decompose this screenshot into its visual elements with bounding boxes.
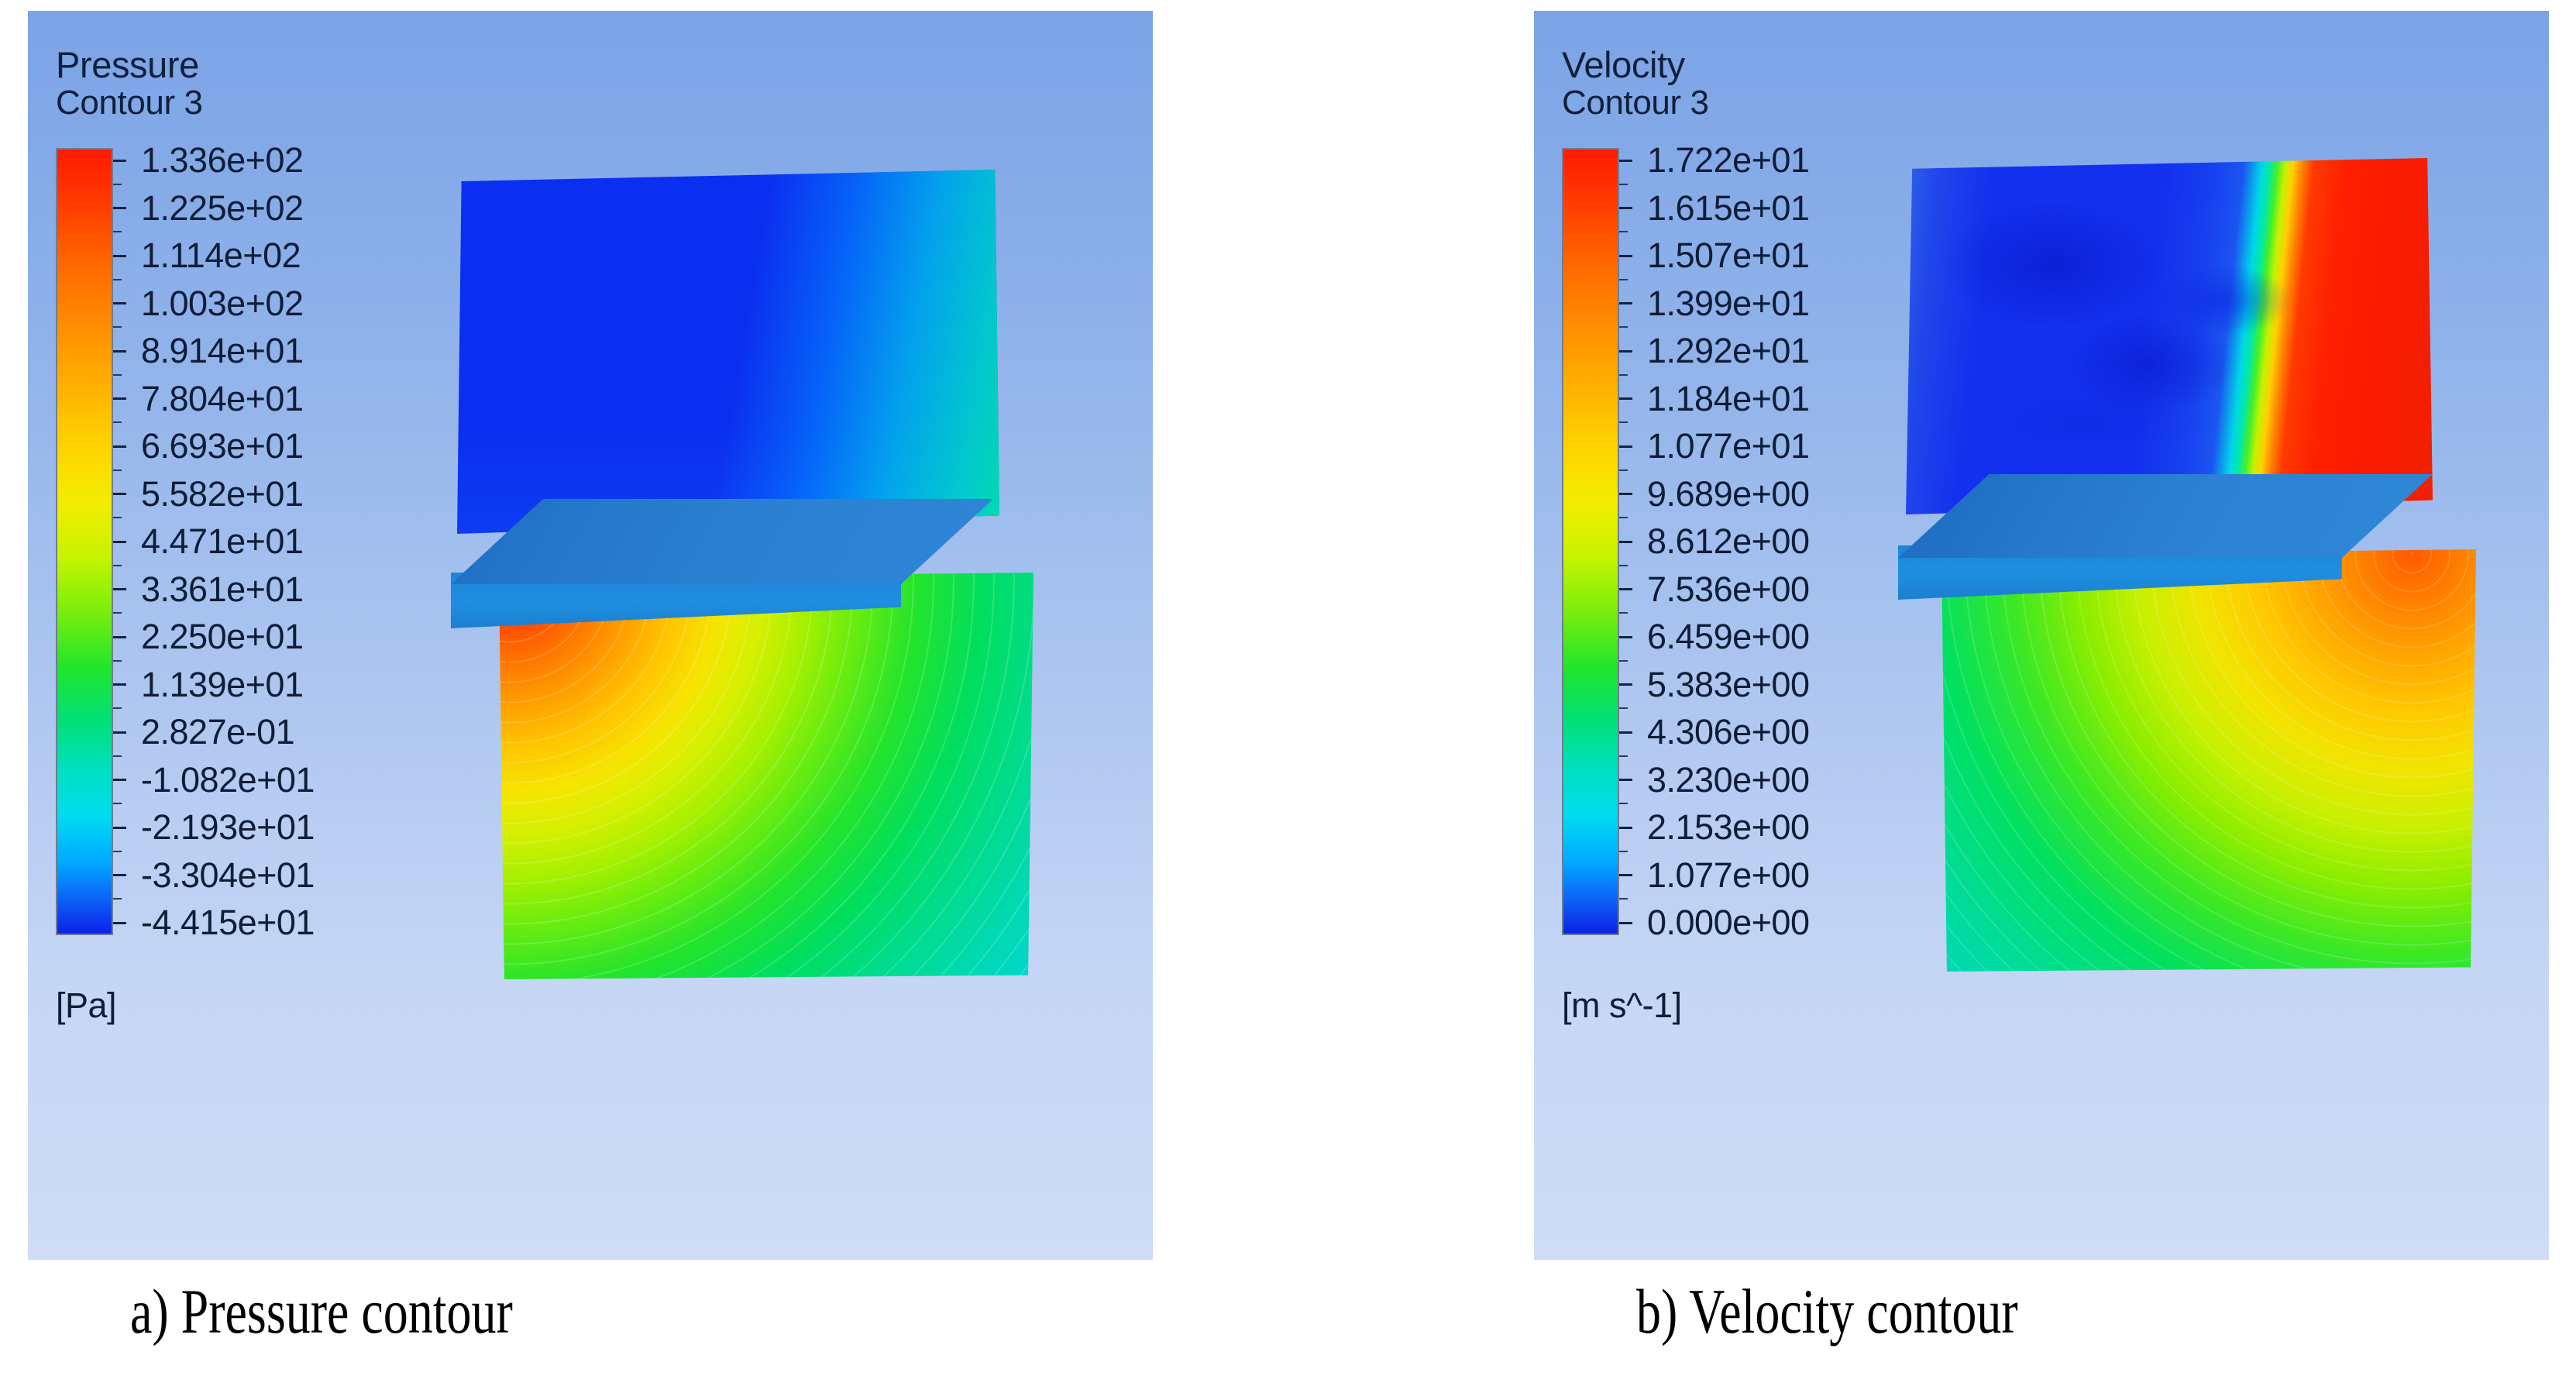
colorbar-tick-major (113, 541, 126, 543)
legend-level-label: -2.193e+01 (141, 807, 315, 848)
colorbar-tick-minor (1619, 612, 1628, 614)
pressure-colorbar-wrap (56, 148, 130, 935)
legend-level-label: 4.306e+00 (1647, 712, 1809, 752)
caption-pressure-contour: a) Pressure contour (130, 1275, 513, 1348)
colorbar-tick-minor (113, 660, 122, 662)
colorbar-tick-major (113, 397, 126, 400)
colorbar-tick-major (113, 350, 126, 353)
pressure-legend-contour-name: Contour 3 (56, 85, 203, 122)
pressure-colorbar-ticks (113, 148, 130, 935)
colorbar-tick-major (113, 588, 126, 590)
figure-row: Pressure Contour 3 1.336e+021.225e+021.1… (0, 0, 2576, 1271)
colorbar-tick-minor (1619, 660, 1628, 662)
pressure-legend: Pressure Contour 3 1.336e+021.225e+021.1… (56, 46, 203, 935)
colorbar-tick-major (1619, 493, 1632, 495)
legend-level-label: 6.459e+00 (1647, 617, 1809, 657)
colorbar-tick-major (1619, 683, 1632, 686)
velocity-unit-label: [m s^-1] (1562, 986, 1682, 1026)
legend-level-label: 5.582e+01 (141, 474, 303, 514)
legend-level-label: 8.612e+00 (1647, 521, 1809, 562)
colorbar-tick-minor (113, 707, 122, 709)
pressure-colorbar (56, 148, 113, 935)
colorbar-tick-minor (1619, 374, 1628, 376)
velocity-legend-body: 1.722e+011.615e+011.507e+011.399e+011.29… (1562, 148, 1709, 935)
colorbar-tick-major (113, 731, 126, 734)
colorbar-tick-minor (113, 755, 122, 757)
colorbar-tick-major (1619, 445, 1632, 448)
pressure-contour-scene (451, 170, 1071, 983)
colorbar-tick-minor (113, 231, 122, 232)
legend-level-label: 1.399e+01 (1647, 284, 1809, 324)
colorbar-tick-minor (113, 851, 122, 852)
colorbar-tick-minor (1619, 231, 1628, 232)
colorbar-tick-minor (113, 374, 122, 376)
legend-level-label: 9.689e+00 (1647, 474, 1809, 514)
legend-level-label: 1.114e+02 (141, 236, 301, 276)
legend-level-label: 4.471e+01 (141, 521, 303, 562)
legend-level-label: 2.250e+01 (141, 617, 303, 657)
legend-level-label: 1.077e+01 (1647, 426, 1809, 466)
legend-level-label: 6.693e+01 (141, 426, 303, 466)
colorbar-tick-minor (1619, 279, 1628, 280)
colorbar-tick-major (1619, 922, 1632, 924)
colorbar-tick-major (113, 160, 126, 162)
velocity-contour-panel: Velocity Contour 3 1.722e+011.615e+011.5… (1534, 11, 2549, 1260)
legend-level-label: 1.292e+01 (1647, 331, 1809, 371)
velocity-legend-title: Velocity (1562, 46, 1709, 84)
pressure-unit-label: [Pa] (56, 986, 116, 1026)
colorbar-tick-minor (113, 184, 122, 185)
velocity-colorbar-ticks (1619, 148, 1636, 935)
colorbar-tick-major (1619, 779, 1632, 781)
legend-level-label: 1.225e+02 (141, 188, 303, 229)
colorbar-tick-major (1619, 255, 1632, 257)
velocity-legend-contour-name: Contour 3 (1562, 85, 1709, 122)
legend-level-label: -3.304e+01 (141, 855, 315, 896)
colorbar-tick-major (113, 636, 126, 638)
legend-level-label: 7.804e+01 (141, 379, 303, 419)
colorbar-tick-minor (113, 803, 122, 804)
colorbar-tick-major (1619, 302, 1632, 304)
colorbar-tick-minor (1619, 470, 1628, 471)
legend-level-label: 3.361e+01 (141, 569, 303, 610)
colorbar-tick-major (113, 683, 126, 686)
pressure-legend-body: 1.336e+021.225e+021.114e+021.003e+028.91… (56, 148, 203, 935)
pressure-lower-wall-field (499, 573, 1033, 979)
colorbar-tick-minor (1619, 565, 1628, 566)
legend-level-label: 2.827e-01 (141, 712, 294, 752)
legend-level-label: 1.003e+02 (141, 284, 303, 324)
colorbar-tick-major (1619, 160, 1632, 162)
colorbar-tick-major (113, 779, 126, 781)
legend-level-label: 1.336e+02 (141, 140, 303, 181)
colorbar-tick-minor (1619, 851, 1628, 852)
colorbar-tick-minor (1619, 707, 1628, 709)
colorbar-tick-minor (1619, 803, 1628, 804)
colorbar-tick-minor (113, 421, 122, 423)
velocity-colorbar (1562, 148, 1619, 935)
velocity-lower-wall-field (1941, 549, 2476, 972)
colorbar-tick-minor (1619, 898, 1628, 900)
legend-level-label: 1.722e+01 (1647, 140, 1809, 181)
legend-level-label: -1.082e+01 (141, 760, 315, 800)
pressure-upper-wall-field (457, 170, 999, 534)
colorbar-tick-major (1619, 207, 1632, 209)
legend-level-label: 0.000e+00 (1647, 903, 1809, 943)
colorbar-tick-minor (1619, 517, 1628, 518)
colorbar-tick-minor (113, 470, 122, 471)
colorbar-tick-major (1619, 636, 1632, 638)
colorbar-tick-minor (113, 517, 122, 518)
pressure-legend-title: Pressure (56, 46, 203, 84)
legend-level-label: 1.077e+00 (1647, 855, 1809, 896)
colorbar-tick-major (1619, 350, 1632, 353)
legend-level-label: 1.184e+01 (1647, 379, 1809, 419)
colorbar-tick-major (1619, 731, 1632, 734)
colorbar-tick-major (113, 874, 126, 876)
legend-level-label: 7.536e+00 (1647, 569, 1809, 610)
legend-level-label: 5.383e+00 (1647, 665, 1809, 705)
colorbar-tick-minor (113, 898, 122, 900)
legend-level-label: 2.153e+00 (1647, 807, 1809, 848)
colorbar-tick-minor (113, 612, 122, 614)
colorbar-tick-major (1619, 397, 1632, 400)
colorbar-tick-major (1619, 541, 1632, 543)
colorbar-tick-major (113, 255, 126, 257)
colorbar-tick-major (113, 493, 126, 495)
colorbar-tick-minor (1619, 184, 1628, 185)
colorbar-tick-major (1619, 588, 1632, 590)
legend-level-label: 8.914e+01 (141, 331, 303, 371)
pressure-contour-panel: Pressure Contour 3 1.336e+021.225e+021.1… (28, 11, 1153, 1260)
legend-level-label: 1.507e+01 (1647, 236, 1809, 276)
colorbar-tick-minor (1619, 326, 1628, 328)
colorbar-tick-major (113, 922, 126, 924)
velocity-blade-top-face (1898, 474, 2433, 558)
legend-level-label: 3.230e+00 (1647, 760, 1809, 800)
colorbar-tick-minor (113, 279, 122, 280)
legend-level-label: -4.415e+01 (141, 903, 315, 943)
colorbar-tick-minor (1619, 421, 1628, 423)
colorbar-tick-major (1619, 874, 1632, 876)
velocity-contour-scene (1898, 158, 2487, 972)
colorbar-tick-minor (113, 565, 122, 566)
legend-level-label: 1.139e+01 (141, 665, 303, 705)
caption-velocity-contour: b) Velocity contour (1636, 1275, 2018, 1348)
colorbar-tick-major (113, 445, 126, 448)
velocity-colorbar-wrap (1562, 148, 1636, 935)
colorbar-tick-major (113, 207, 126, 209)
colorbar-tick-major (113, 827, 126, 829)
colorbar-tick-minor (113, 326, 122, 328)
velocity-wake-blobs (1906, 158, 2433, 514)
velocity-legend: Velocity Contour 3 1.722e+011.615e+011.5… (1562, 46, 1709, 935)
colorbar-tick-major (1619, 827, 1632, 829)
colorbar-tick-minor (1619, 755, 1628, 757)
colorbar-tick-major (113, 302, 126, 304)
pressure-blade-top-face (451, 499, 993, 584)
velocity-upper-wall-field (1906, 158, 2433, 514)
legend-level-label: 1.615e+01 (1647, 188, 1809, 229)
